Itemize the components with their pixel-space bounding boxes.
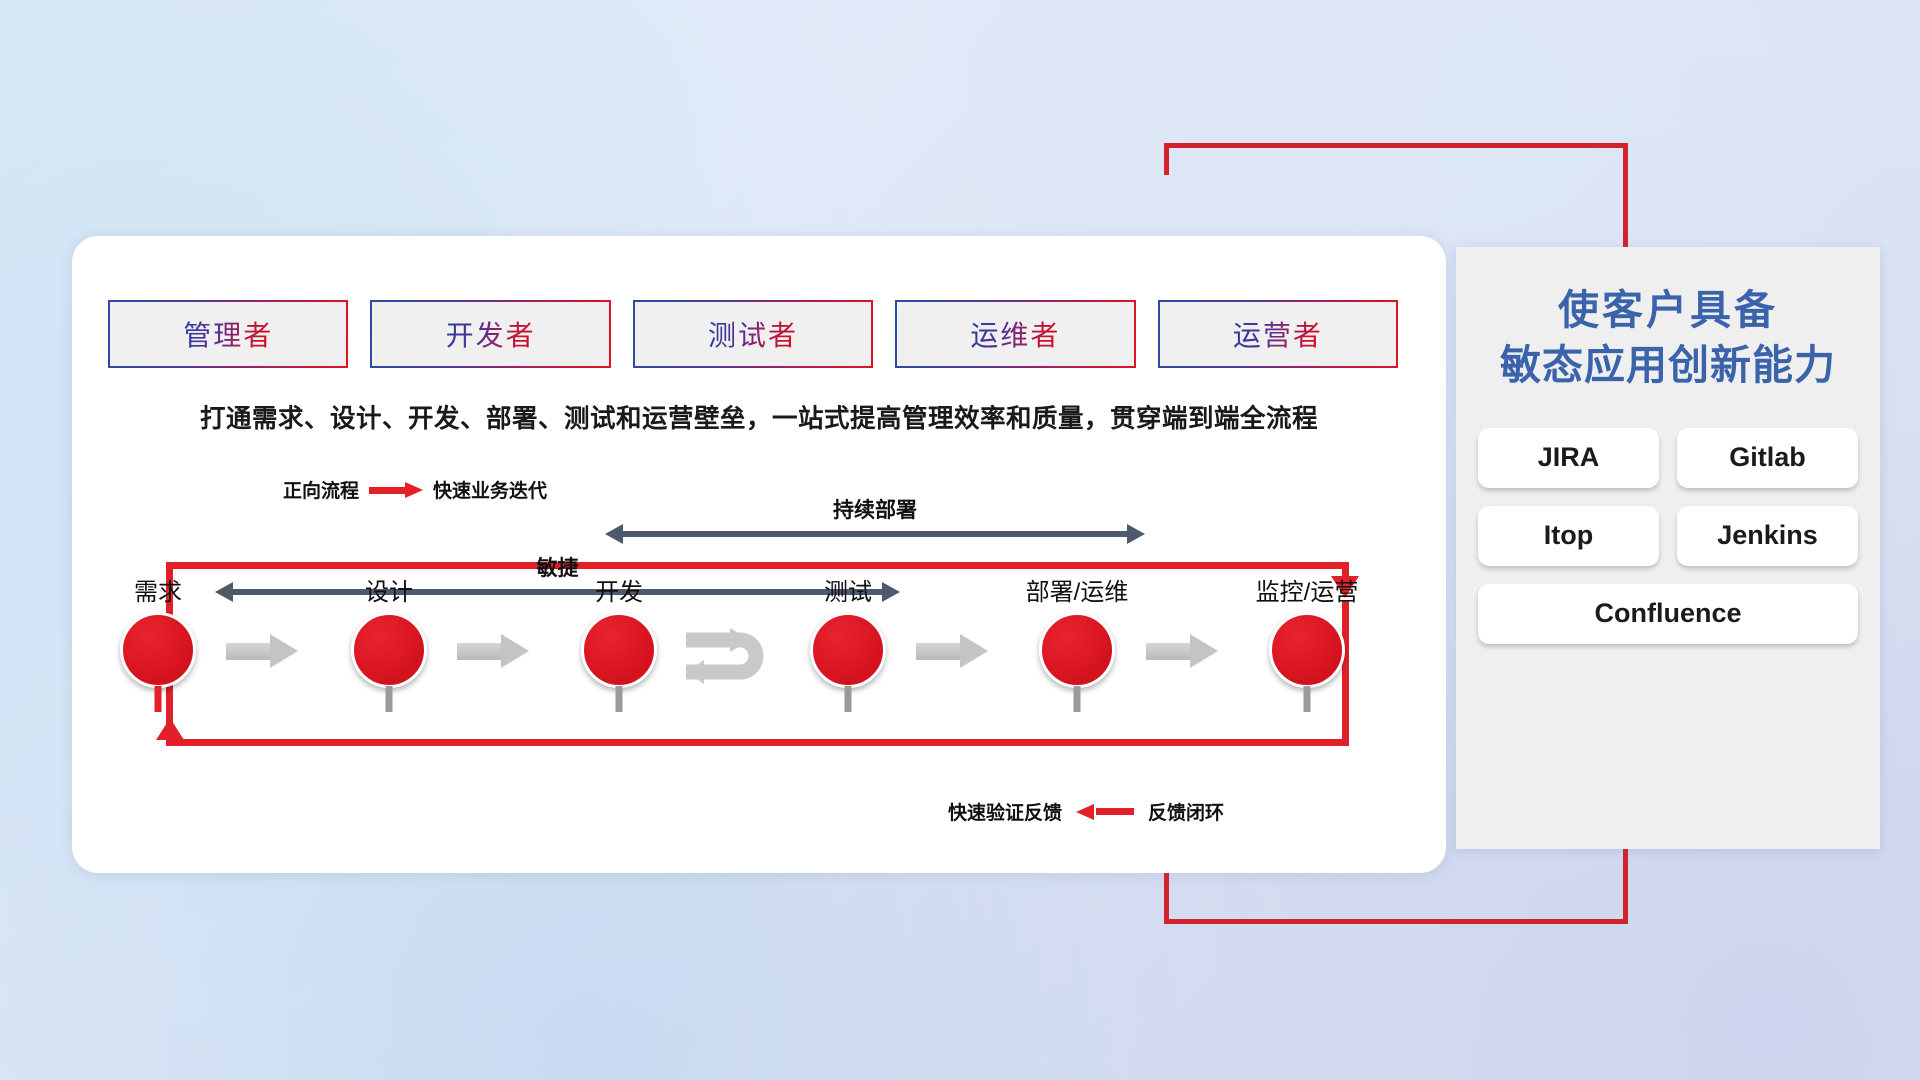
- pipeline-node-dot: [581, 612, 657, 688]
- pipeline-node-dot: [351, 612, 427, 688]
- double-arrow-agile-icon: [215, 582, 900, 602]
- pipeline-node-dot: [810, 612, 886, 688]
- pipeline-node-label: 设计: [365, 572, 413, 607]
- description-text: 打通需求、设计、开发、部署、测试和运营壁垒，一站式提高管理效率和质量，贯穿端到端…: [0, 398, 1518, 435]
- legend-feedback-loop: 快速验证反馈 反馈闭环: [948, 798, 1224, 825]
- pipeline-node-label: 监控/运营: [1256, 572, 1359, 607]
- tool-chip-grid: JIRA Gitlab Itop Jenkins Confluence: [1478, 428, 1858, 644]
- role-label: 运维者: [970, 314, 1060, 354]
- tool-chip-gitlab[interactable]: Gitlab: [1677, 428, 1858, 488]
- role-box-manager[interactable]: 管理者: [108, 300, 348, 368]
- role-label: 管理者: [183, 314, 273, 354]
- role-label: 测试者: [708, 314, 798, 354]
- role-label: 运营者: [1233, 314, 1323, 354]
- bracket-left-segment: [1164, 143, 1169, 175]
- pipeline-node-stem: [386, 686, 393, 712]
- pipeline-node-testing[interactable]: 测试: [810, 612, 886, 688]
- pipeline-node-stem: [155, 686, 162, 712]
- tool-chip-jenkins[interactable]: Jenkins: [1677, 506, 1858, 566]
- side-panel-title-line2: 敏态应用创新能力: [1456, 338, 1880, 393]
- pipeline-node-stem: [1074, 686, 1081, 712]
- span-caption-continuous-deployment: 持续部署: [605, 494, 1145, 524]
- role-boxes-row: 管理者 开发者 测试者 运维者 运营者: [108, 300, 1398, 368]
- chevron-arrow-icon: [226, 634, 298, 668]
- side-panel-title-line1: 使客户具备: [1456, 283, 1880, 338]
- chevron-arrow-icon: [916, 634, 988, 668]
- tool-chip-jira[interactable]: JIRA: [1478, 428, 1659, 488]
- side-panel: 使客户具备 敏态应用创新能力 JIRA Gitlab Itop Jenkins …: [1456, 247, 1880, 849]
- role-box-tester[interactable]: 测试者: [633, 300, 873, 368]
- chevron-arrow-icon: [457, 634, 529, 668]
- role-box-developer[interactable]: 开发者: [370, 300, 610, 368]
- legend-forward-left-label: 正向流程: [283, 476, 359, 503]
- legend-forward-right-label: 快速业务迭代: [433, 476, 547, 503]
- legend-feedback-right-label: 反馈闭环: [1148, 798, 1224, 825]
- pipeline-node-label: 需求: [134, 572, 182, 607]
- pipeline-node-development[interactable]: 开发: [581, 612, 657, 688]
- tool-chip-itop[interactable]: Itop: [1478, 506, 1659, 566]
- role-box-operator[interactable]: 运营者: [1158, 300, 1398, 368]
- bracket-top-segment: [1164, 143, 1628, 148]
- double-arrow-continuous-deployment-icon: [605, 524, 1145, 544]
- pipeline-node-dot: [1039, 612, 1115, 688]
- pipeline-node-label: 测试: [824, 572, 872, 607]
- role-box-ops[interactable]: 运维者: [895, 300, 1135, 368]
- red-arrow-right-icon: [369, 485, 423, 495]
- iteration-loop-icon: [684, 620, 784, 694]
- pipeline-node-design[interactable]: 设计: [351, 612, 427, 688]
- pipeline-node-stem: [1304, 686, 1311, 712]
- tool-chip-confluence[interactable]: Confluence: [1478, 584, 1858, 644]
- pipeline-node-label: 开发: [595, 572, 643, 607]
- pipeline-node-dot: [120, 612, 196, 688]
- pipeline-node-deploy-ops[interactable]: 部署/运维: [1039, 612, 1115, 688]
- side-panel-title: 使客户具备 敏态应用创新能力: [1456, 247, 1880, 394]
- loop-bottom-segment: [166, 739, 1349, 746]
- pipeline-node-stem: [616, 686, 623, 712]
- red-arrow-left-icon: [1076, 804, 1134, 820]
- role-label: 开发者: [446, 314, 536, 354]
- legend-feedback-left-label: 快速验证反馈: [948, 798, 1062, 825]
- pipeline-node-dot: [1269, 612, 1345, 688]
- legend-forward-flow: 正向流程 快速业务迭代: [283, 476, 547, 503]
- pipeline-row: 需求 设计 开发 测试 部署/运维 监控/运营: [108, 612, 1398, 732]
- pipeline-node-label: 部署/运维: [1026, 572, 1129, 607]
- span-caption-agile: 敏捷: [215, 552, 900, 582]
- pipeline-node-stem: [845, 686, 852, 712]
- bracket-bottom-segment: [1164, 919, 1628, 924]
- chevron-arrow-icon: [1146, 634, 1218, 668]
- pipeline-node-requirement[interactable]: 需求: [120, 612, 196, 688]
- pipeline-node-monitor-operations[interactable]: 监控/运营: [1269, 612, 1345, 688]
